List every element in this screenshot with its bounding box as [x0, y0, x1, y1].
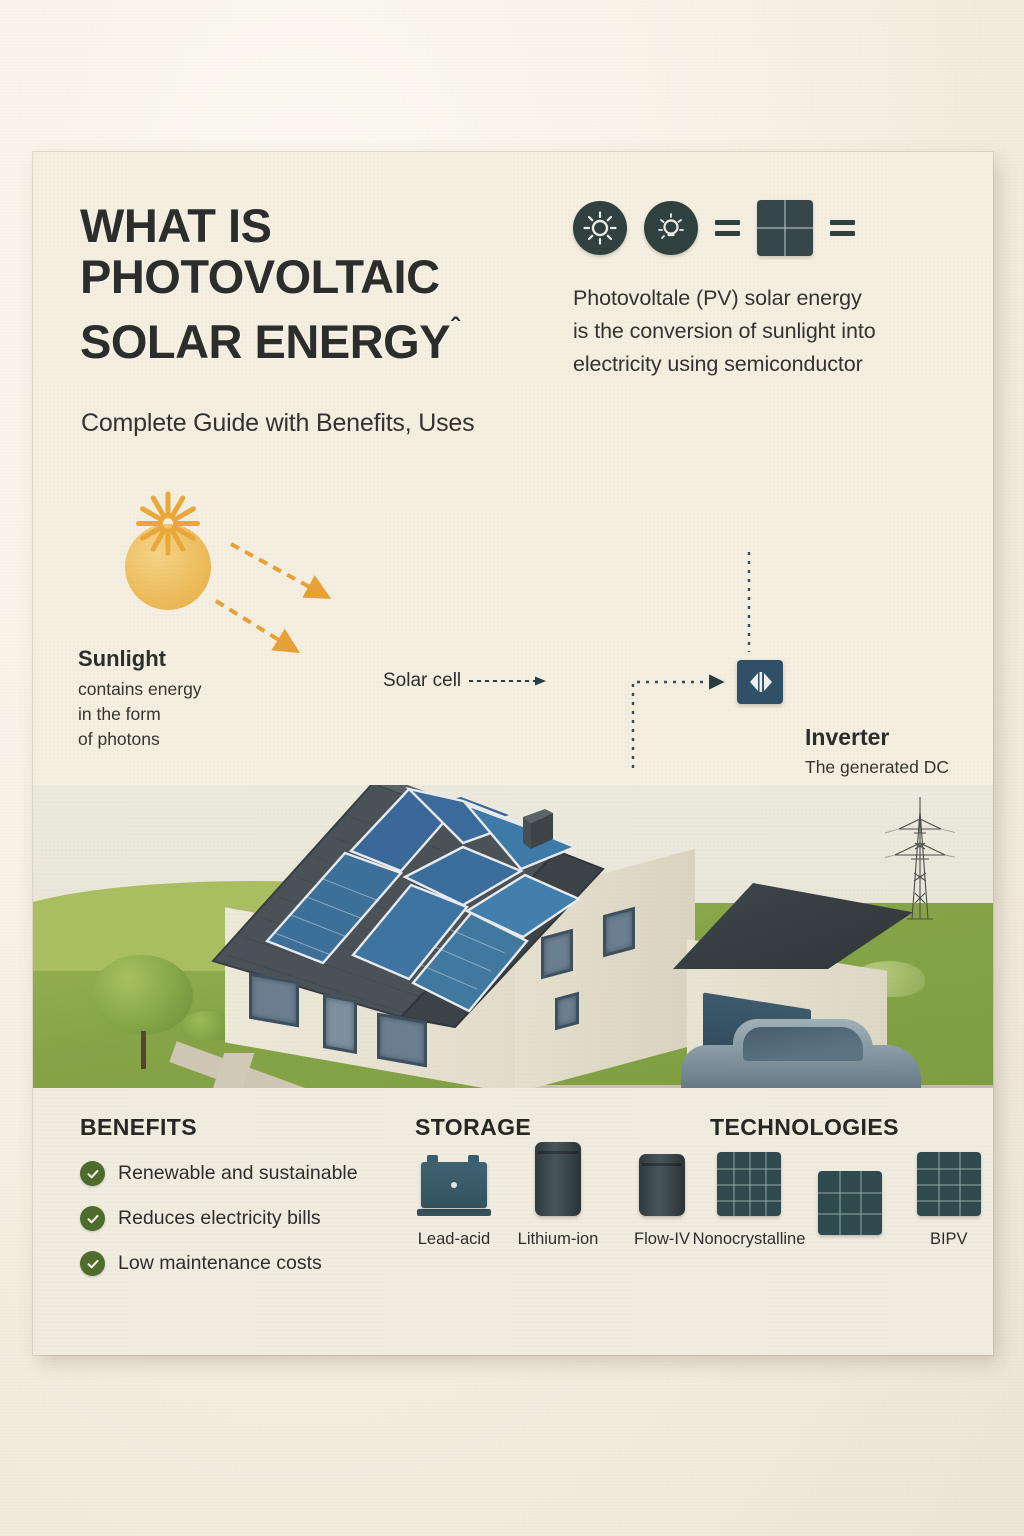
technology-item-label: BIPV: [930, 1230, 968, 1249]
benefit-item: Low maintenance costs: [80, 1251, 430, 1276]
equals-sign-icon-2: [830, 220, 855, 236]
sunlight-line-2: in the form: [78, 702, 258, 727]
equals-sign-icon-1: [715, 220, 740, 236]
technology-item: Nonocrystalline: [710, 1152, 788, 1249]
pv-cell-icon: [717, 1152, 781, 1216]
dc-flow-arrow: [633, 682, 721, 768]
sun-icon: [573, 201, 627, 255]
house-window: [603, 907, 635, 958]
solar-cell-label-text: Solar cell: [383, 670, 461, 692]
technology-item: BIPV: [913, 1152, 986, 1249]
check-icon: [80, 1251, 105, 1276]
house-window: [555, 992, 579, 1030]
technology-item: [814, 1171, 887, 1249]
scene-tree: [93, 955, 193, 1069]
tree-crown: [93, 955, 193, 1035]
storage-items: Lead-acid Lithium-ion Flow-IV: [415, 1165, 705, 1249]
title-line-1: WHAT IS: [80, 200, 580, 251]
storage-item: Flow-IV: [623, 1154, 701, 1249]
benefit-item: Renewable and sustainable: [80, 1161, 430, 1186]
facts-band: BENEFITS Renewable and sustainable Reduc…: [33, 1088, 993, 1355]
intro-line-2: is the conversion of sunlight into: [573, 315, 973, 348]
car-battery-base: [417, 1209, 491, 1216]
page-title: WHAT IS PHOTOVOLTAIC SOLAR ENERGYˆ: [80, 200, 580, 367]
storage-item-label: Lead-acid: [418, 1230, 490, 1249]
title-line-2: PHOTOVOLTAIC: [80, 251, 580, 302]
house-window: [249, 973, 299, 1028]
sunlight-heading: Sunlight: [78, 646, 258, 672]
pv-cell-icon: [818, 1171, 882, 1235]
solar-panel-icon: [757, 200, 813, 256]
benefits-section: BENEFITS Renewable and sustainable Reduc…: [80, 1114, 430, 1276]
benefits-heading: BENEFITS: [80, 1114, 430, 1141]
house-window: [541, 929, 573, 980]
storage-item-label: Flow-IV: [634, 1230, 690, 1249]
house-roof: [205, 785, 725, 1085]
battery-cylinder-icon: [639, 1154, 685, 1216]
tree-trunk: [141, 1031, 146, 1069]
storage-item-label: Lithium-ion: [518, 1230, 599, 1249]
page-subtitle: Complete Guide with Benefits, Uses: [81, 409, 601, 438]
house-window: [377, 1013, 427, 1068]
storage-section: STORAGE Lead-acid Lithium-ion Flow-IV: [415, 1114, 705, 1249]
technology-item-label: Nonocrystalline: [693, 1230, 806, 1249]
title-caret-mark: ˆ: [451, 312, 459, 342]
benefit-label: Low maintenance costs: [118, 1252, 322, 1275]
inverter-heading: Inverter: [805, 724, 995, 751]
car: [681, 1013, 921, 1088]
sun-illustration: [78, 477, 258, 657]
house-door: [323, 994, 357, 1054]
technologies-heading: TECHNOLOGIES: [710, 1114, 985, 1141]
benefit-label: Renewable and sustainable: [118, 1162, 358, 1185]
infographic-poster: WHAT IS PHOTOVOLTAIC SOLAR ENERGYˆ Compl…: [33, 152, 993, 1355]
title-line-3-wrap: SOLAR ENERGYˆ: [80, 302, 580, 367]
check-icon: [80, 1161, 105, 1186]
solar-cell-annotation: Solar cell: [383, 670, 549, 692]
storage-item: Lead-acid: [415, 1162, 493, 1249]
inverter-line-1: The generated DC: [805, 754, 995, 781]
header-icon-row: [573, 200, 855, 256]
house: [205, 785, 725, 1085]
check-icon: [80, 1206, 105, 1231]
garage-roof: [663, 883, 913, 969]
car-battery-icon: [421, 1162, 487, 1208]
intro-paragraph: Photovoltale (PV) solar energy is the co…: [573, 282, 973, 381]
battery-cylinder-icon: [535, 1142, 581, 1216]
sunlight-annotation: Sunlight contains energy in the form of …: [78, 646, 258, 752]
car-windshield: [743, 1027, 863, 1061]
intro-line-3: electricity using semiconductor: [573, 348, 973, 381]
house-scene-illustration: [33, 785, 993, 1088]
sunlight-line-1: contains energy: [78, 677, 258, 702]
technologies-section: TECHNOLOGIES Nonocrystalline: [710, 1114, 985, 1249]
pv-cell-icon: [917, 1152, 981, 1216]
storage-item: Lithium-ion: [519, 1142, 597, 1249]
sunlight-line-3: of photons: [78, 727, 258, 752]
intro-line-1: Photovoltale (PV) solar energy: [573, 282, 973, 315]
storage-heading: STORAGE: [415, 1114, 705, 1141]
solar-cell-pointer-arrow: [469, 675, 549, 687]
inverter-icon: [737, 660, 783, 704]
benefit-item: Reduces electricity bills: [80, 1206, 430, 1231]
technologies-items: Nonocrystalline BIPV: [710, 1165, 985, 1249]
benefit-label: Reduces electricity bills: [118, 1207, 321, 1230]
lightbulb-icon: [644, 201, 698, 255]
title-line-3: SOLAR ENERGY: [80, 315, 450, 368]
